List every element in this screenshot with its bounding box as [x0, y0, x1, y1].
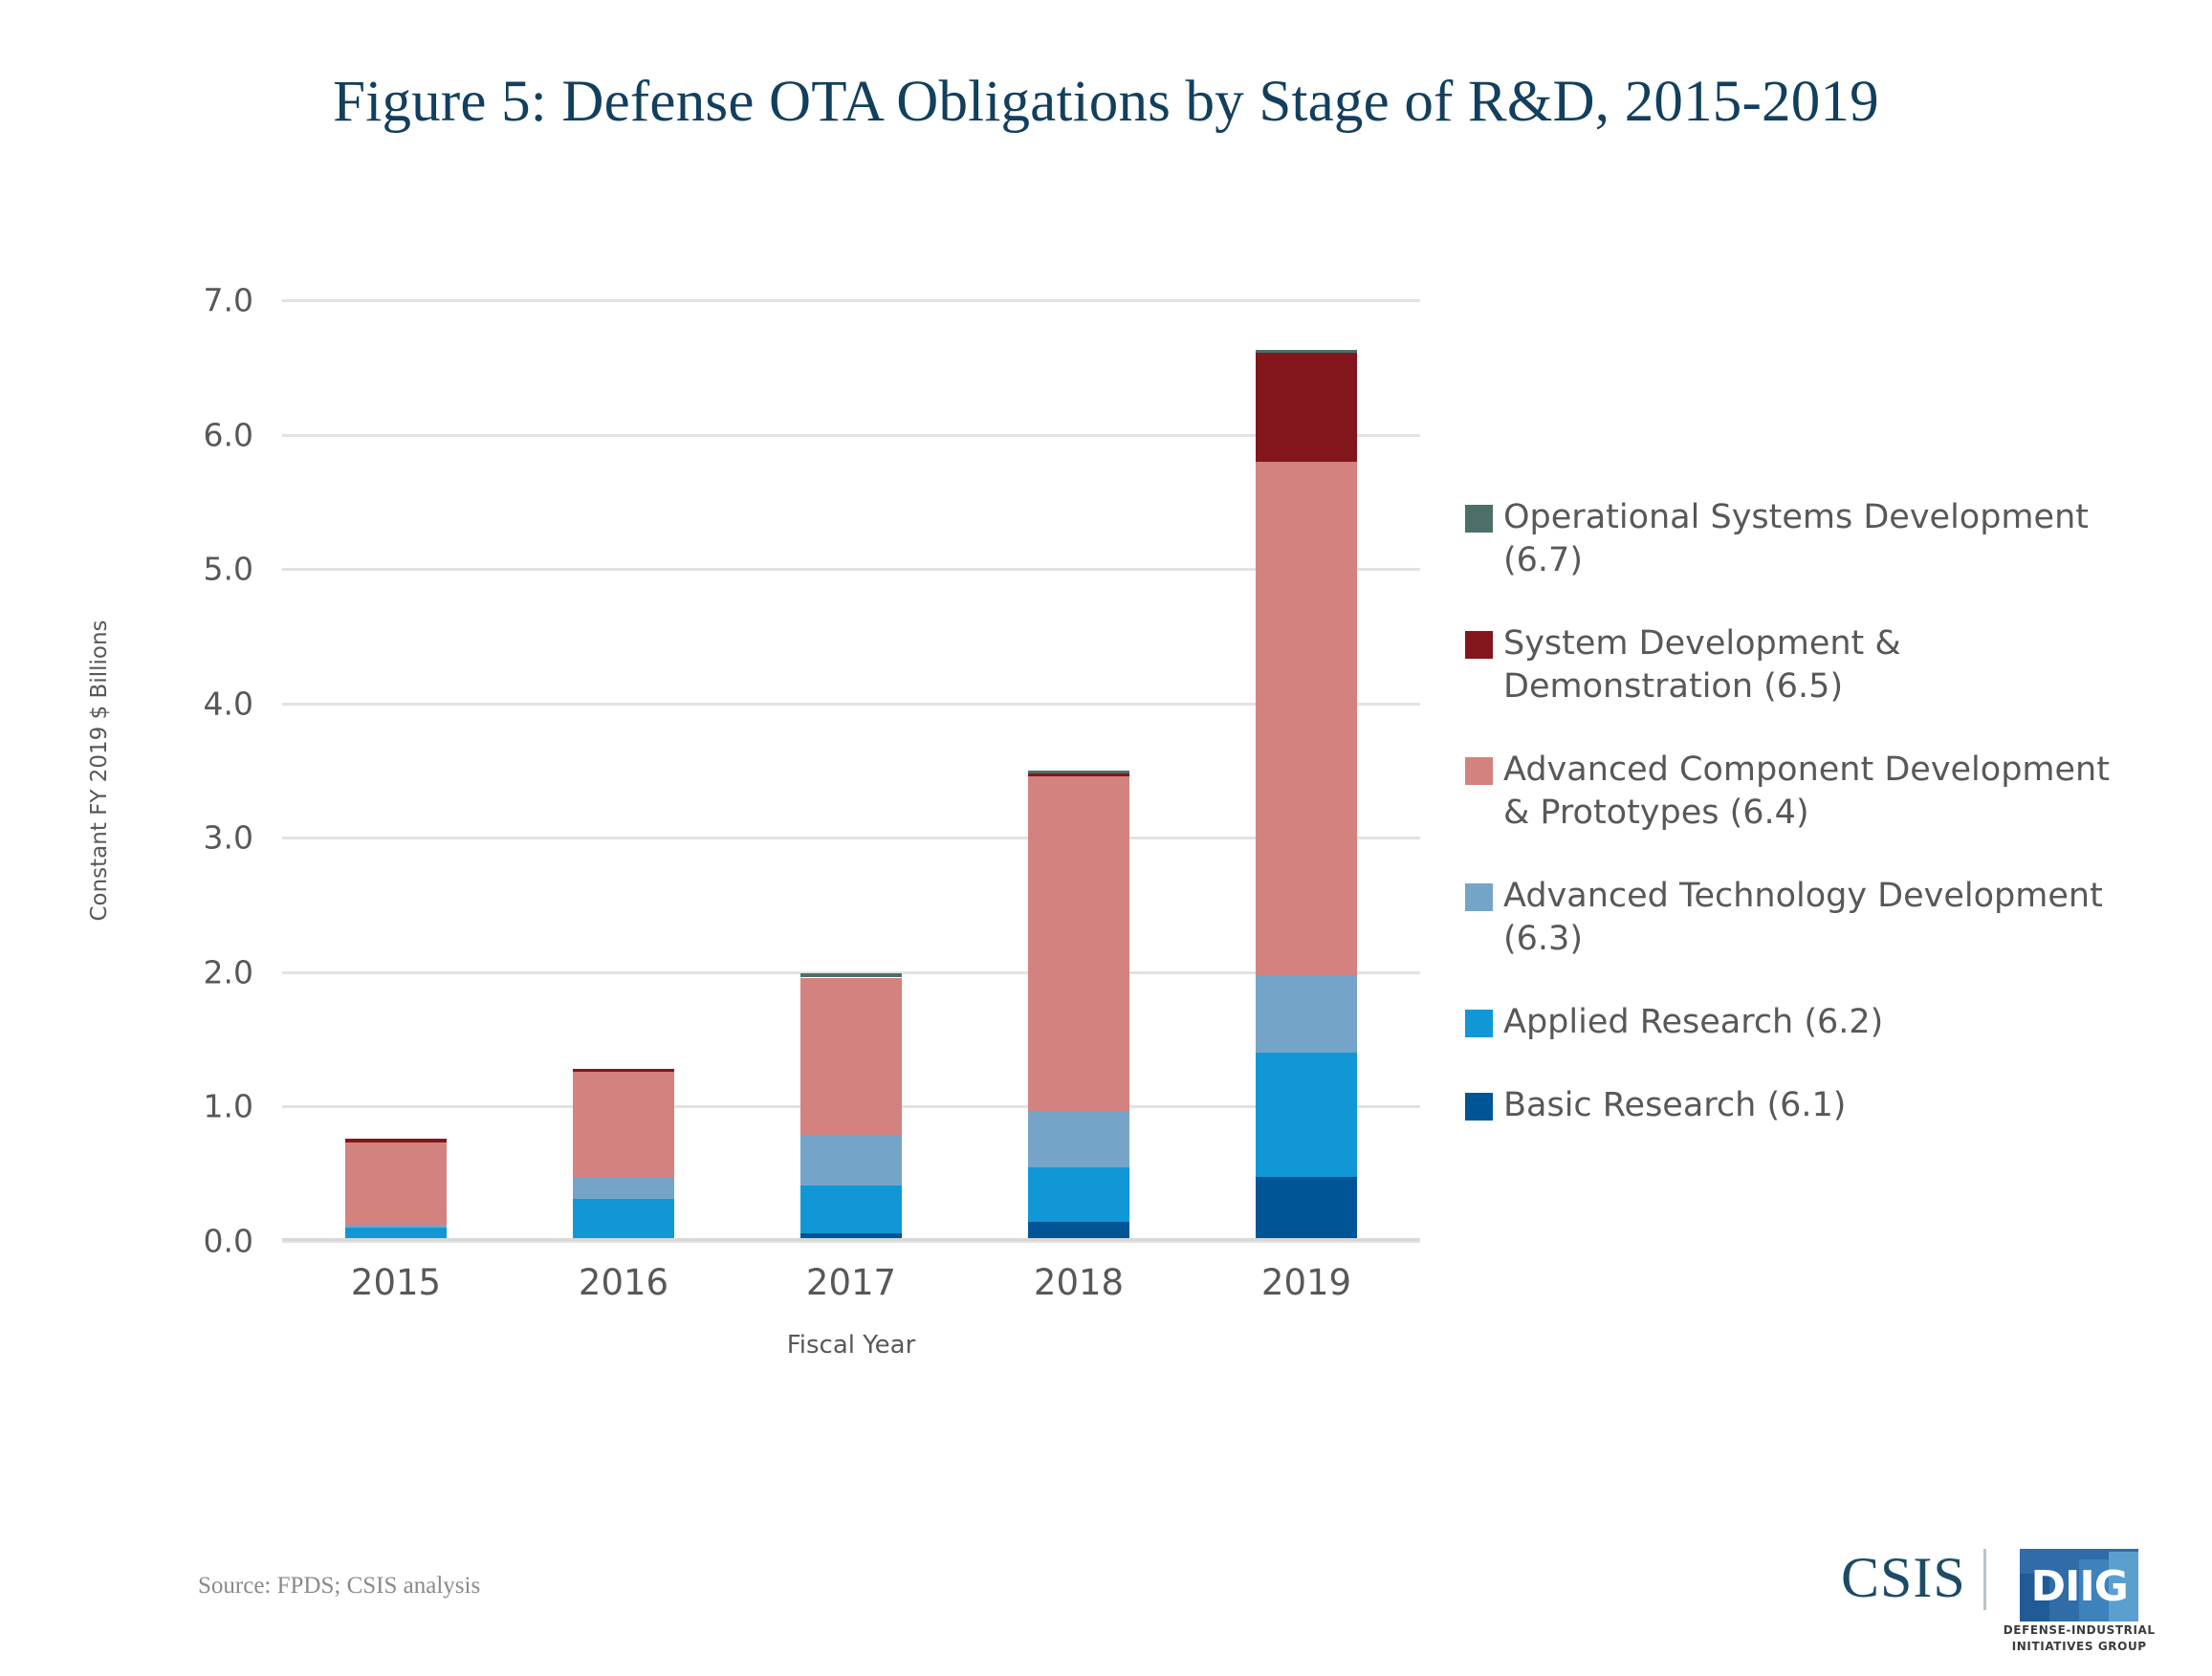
legend-swatch-icon [1465, 757, 1493, 785]
x-axis-tick-label: 2019 [1261, 1262, 1351, 1303]
y-axis-tick-label: 0.0 [204, 1223, 253, 1260]
bar-group-2016[interactable] [573, 300, 674, 1241]
bar-segment[interactable] [1256, 1177, 1357, 1241]
legend-item[interactable]: System Development & Demonstration (6.5) [1465, 622, 2135, 708]
bar-group-2018[interactable] [1028, 300, 1129, 1241]
csis-wordmark: CSIS [1841, 1549, 1966, 1606]
legend-swatch-icon [1465, 1010, 1493, 1037]
y-axis-tick-label: 6.0 [204, 416, 253, 453]
legend-swatch-icon [1465, 1093, 1493, 1121]
bar-segment[interactable] [1028, 773, 1129, 776]
bar-segment[interactable] [345, 1143, 447, 1225]
legend-label: Advanced Technology Development (6.3) [1503, 875, 2135, 961]
y-axis-tick-label: 4.0 [204, 685, 253, 722]
legend-label: System Development & Demonstration (6.5) [1503, 622, 2135, 708]
bar-segment[interactable] [573, 1072, 674, 1177]
y-axis-tick-label: 3.0 [204, 819, 253, 857]
logo-divider [1983, 1549, 1986, 1610]
chart-legend: Operational Systems Development (6.7)Sys… [1465, 496, 2135, 1167]
legend-swatch-icon [1465, 505, 1493, 533]
bar-segment[interactable] [800, 973, 902, 977]
y-axis-tick-label: 5.0 [204, 551, 253, 588]
y-axis-tick-labels: 0.01.02.03.04.05.06.07.0 [0, 300, 282, 1241]
legend-label: Basic Research (6.1) [1503, 1084, 1846, 1127]
bar-segment[interactable] [1028, 1167, 1129, 1223]
stacked-bar[interactable] [1028, 771, 1129, 1241]
legend-label: Operational Systems Development (6.7) [1503, 496, 2135, 582]
x-axis-baseline [282, 1238, 1420, 1241]
x-axis-tick-label: 2016 [579, 1262, 668, 1303]
legend-label: Applied Research (6.2) [1503, 1001, 1883, 1044]
plot-area [282, 300, 1420, 1241]
y-axis-tick-label: 1.0 [204, 1088, 253, 1125]
bar-group-2019[interactable] [1256, 300, 1357, 1241]
bar-segment[interactable] [1256, 350, 1357, 353]
x-axis-tick-label: 2018 [1034, 1262, 1124, 1303]
csis-diig-logo: CSIS DIIG DEFENSE-INDUSTRIAL INITIATIVES… [1841, 1549, 2156, 1654]
legend-item[interactable]: Applied Research (6.2) [1465, 1001, 2135, 1044]
diig-subtitle-line2: INITIATIVES GROUP [2012, 1640, 2147, 1654]
diig-logo-box: DIIG [2020, 1549, 2138, 1622]
diig-subtitle-line1: DEFENSE-INDUSTRIAL [2004, 1623, 2156, 1638]
bar-segment[interactable] [1028, 771, 1129, 773]
bar-segment[interactable] [345, 1225, 447, 1228]
stacked-bar[interactable] [1256, 350, 1357, 1241]
bar-series-container [282, 300, 1420, 1241]
source-note: Source: FPDS; CSIS analysis [198, 1573, 480, 1600]
y-axis-tick-label: 2.0 [204, 953, 253, 990]
bar-segment[interactable] [800, 978, 902, 1135]
stacked-bar[interactable] [573, 1069, 674, 1241]
bar-segment[interactable] [1028, 1111, 1129, 1167]
bar-segment[interactable] [800, 1186, 902, 1232]
legend-swatch-icon [1465, 631, 1493, 659]
bar-group-2017[interactable] [800, 300, 902, 1241]
legend-label: Advanced Component Development & Prototy… [1503, 749, 2135, 835]
bar-segment[interactable] [1256, 353, 1357, 462]
bar-segment[interactable] [1256, 1053, 1357, 1176]
legend-item[interactable]: Advanced Component Development & Prototy… [1465, 749, 2135, 835]
stacked-bar[interactable] [345, 1139, 447, 1241]
bar-segment[interactable] [800, 1135, 902, 1186]
legend-item[interactable]: Advanced Technology Development (6.3) [1465, 875, 2135, 961]
x-axis-tick-label: 2017 [806, 1262, 896, 1303]
bar-segment[interactable] [1256, 462, 1357, 975]
page-title: Figure 5: Defense OTA Obligations by Sta… [0, 69, 2212, 136]
legend-item[interactable]: Operational Systems Development (6.7) [1465, 496, 2135, 582]
x-axis-title: Fiscal Year [787, 1331, 916, 1360]
y-axis-tick-label: 7.0 [204, 282, 253, 319]
x-axis-tick-labels: 20152016201720182019 [282, 1262, 1420, 1319]
diig-mark: DIIG DEFENSE-INDUSTRIAL INITIATIVES GROU… [2004, 1549, 2156, 1654]
legend-item[interactable]: Basic Research (6.1) [1465, 1084, 2135, 1127]
diig-letters: DIIG [2020, 1566, 2138, 1608]
bar-segment[interactable] [573, 1069, 674, 1072]
bar-segment[interactable] [573, 1199, 674, 1241]
x-axis-tick-label: 2015 [351, 1262, 441, 1303]
legend-swatch-icon [1465, 883, 1493, 911]
bar-segment[interactable] [573, 1177, 674, 1200]
bar-group-2015[interactable] [345, 300, 447, 1241]
bar-segment[interactable] [1256, 975, 1357, 1054]
stacked-bar[interactable] [800, 973, 902, 1241]
bar-segment[interactable] [1028, 776, 1129, 1111]
bar-segment[interactable] [345, 1139, 447, 1143]
